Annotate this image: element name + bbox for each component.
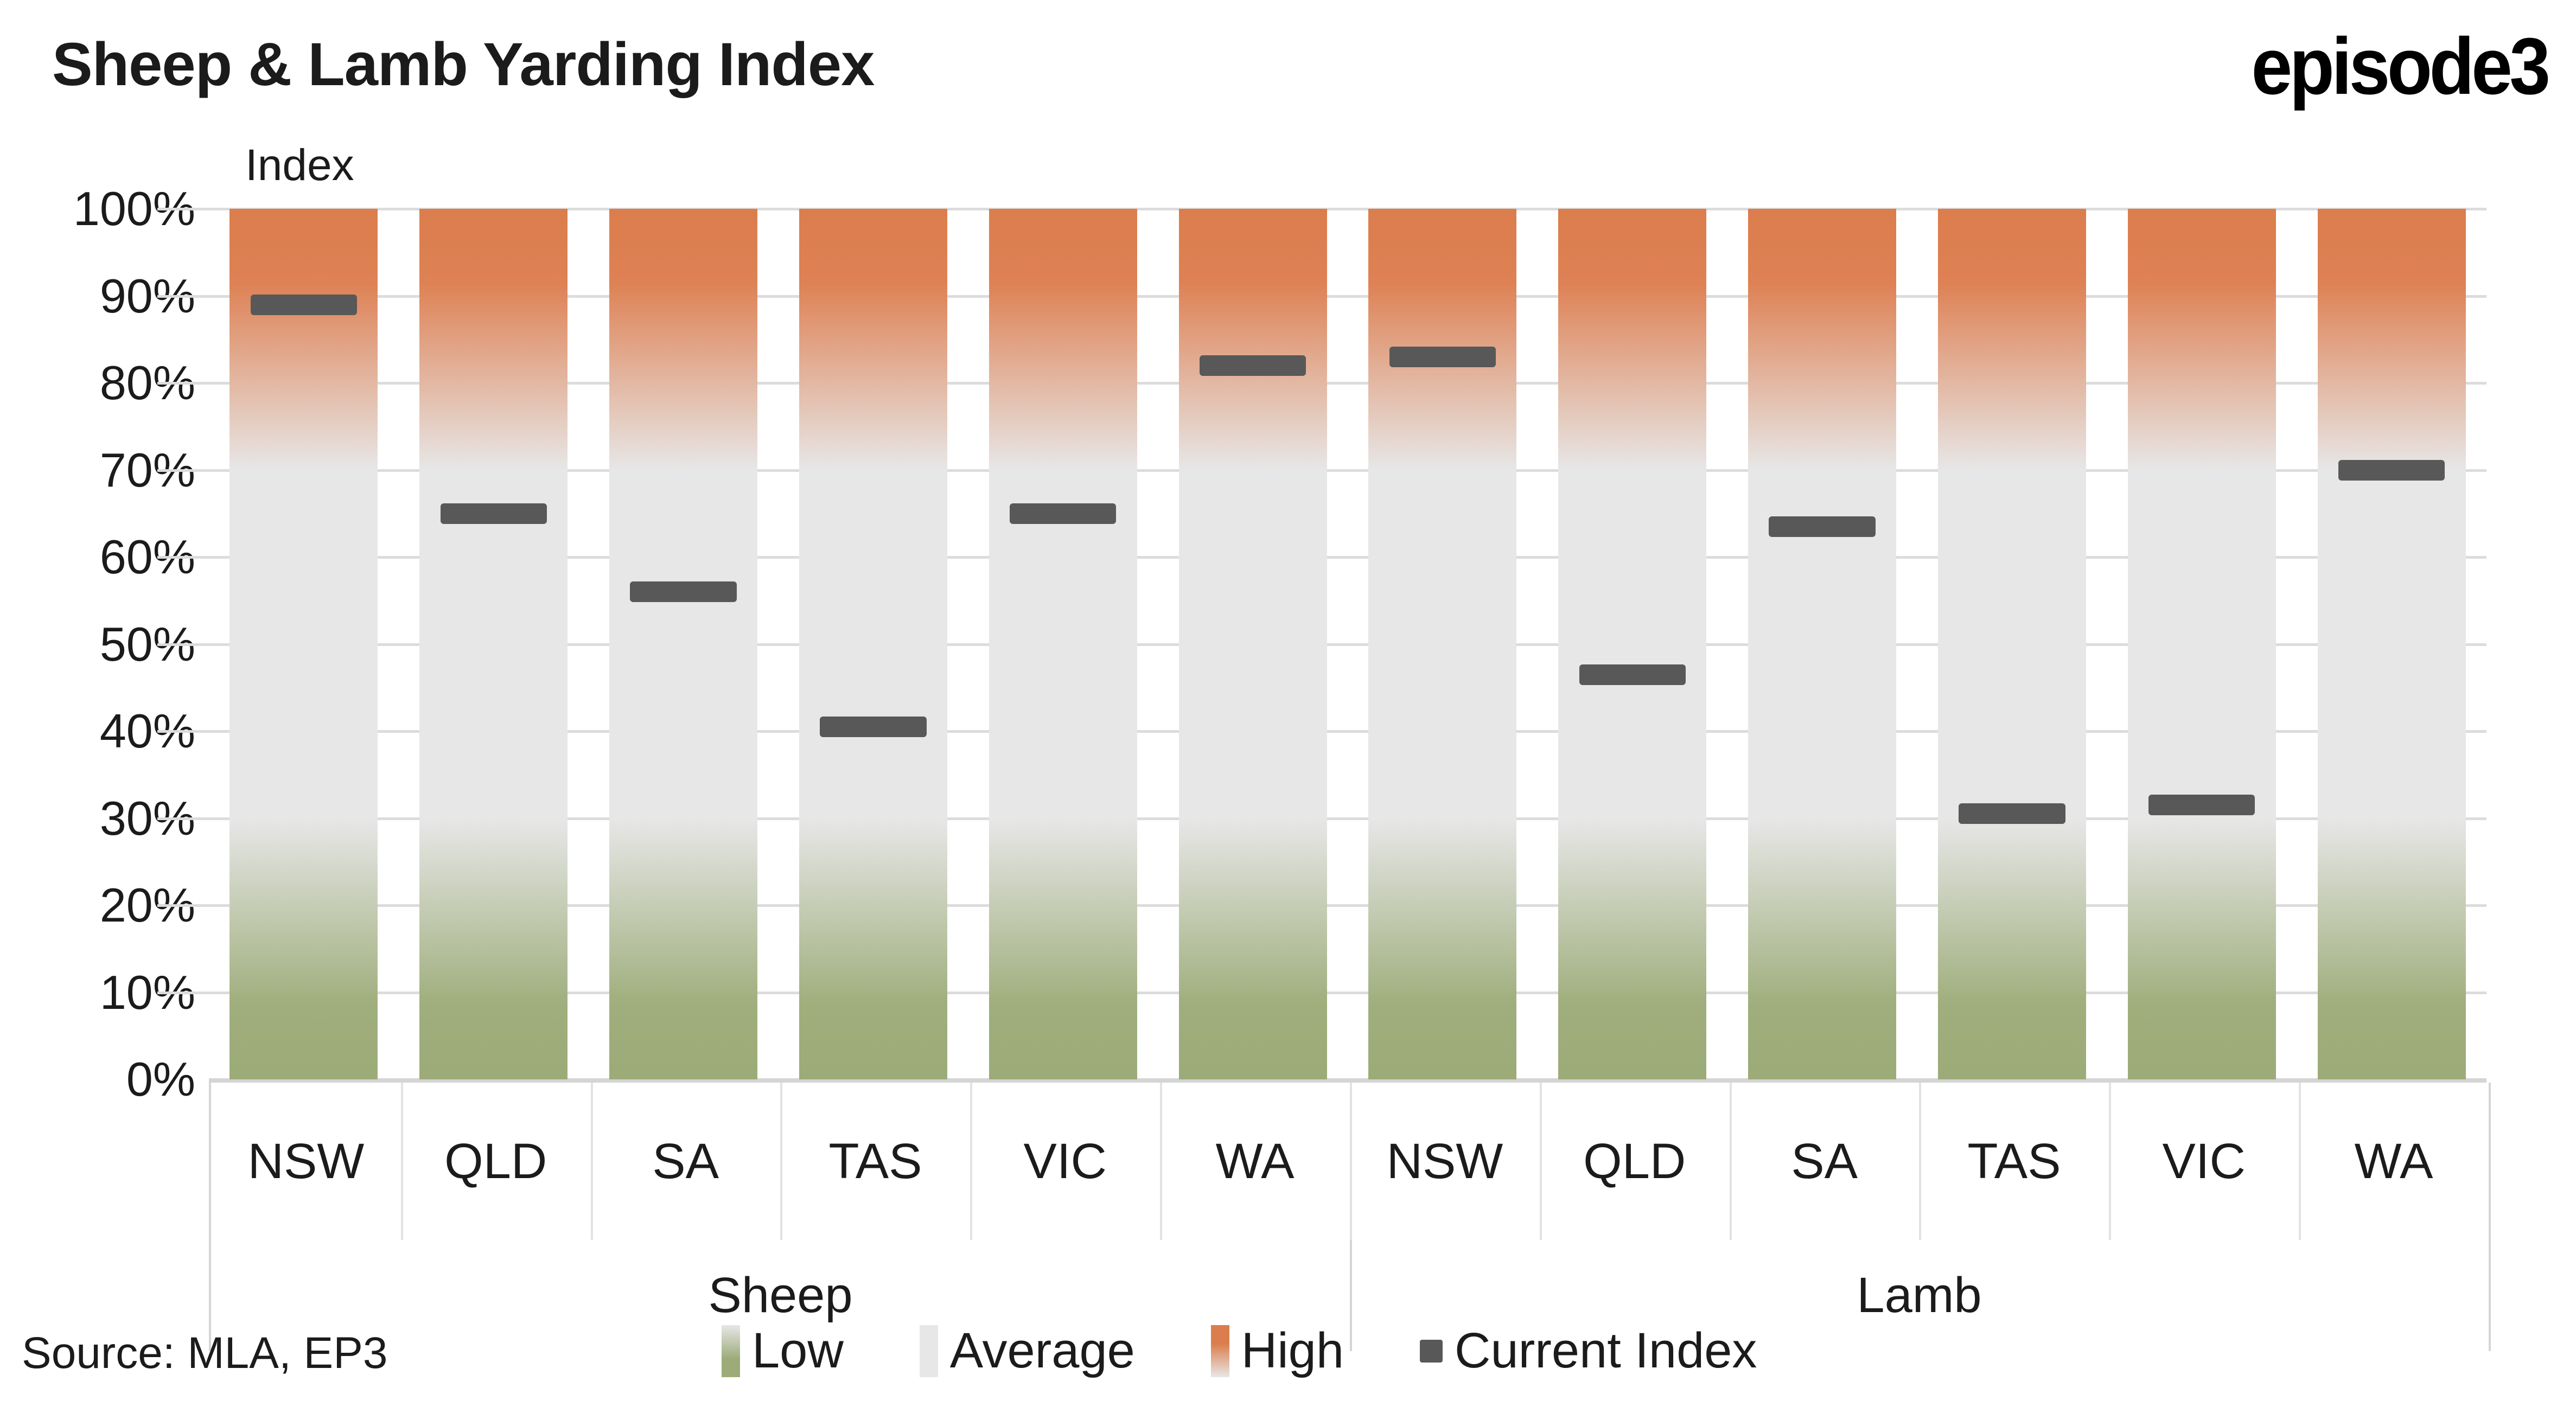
source-note: Source: MLA, EP3 [22, 1328, 388, 1379]
current-index-marker-lamb-sa [1769, 516, 1875, 537]
current-index-dash [1420, 1340, 1443, 1363]
bar-lamb-qld [1558, 209, 1706, 1079]
bar-sheep-nsw [229, 209, 378, 1079]
band-low [799, 818, 947, 1080]
band-low [1938, 818, 2086, 1080]
current-index-marker-lamb-vic [2148, 795, 2255, 815]
band-high [989, 209, 1137, 470]
legend-item-average[interactable]: Average [920, 1322, 1135, 1379]
band-high [1748, 209, 1896, 470]
bar-lamb-wa [2318, 209, 2466, 1079]
band-low [1558, 818, 1706, 1080]
bar-sheep-vic [989, 209, 1137, 1079]
current-index-marker-lamb-tas [1959, 803, 2065, 824]
bar-sheep-wa [1179, 209, 1327, 1079]
band-low [609, 818, 757, 1080]
high-gradient-swatch [1211, 1325, 1229, 1377]
category-label-sheep-sa: SA [591, 1083, 783, 1240]
band-high [1938, 209, 2086, 470]
category-axis: NSWQLDSATASVICWANSWQLDSATASVICWA [209, 1083, 2491, 1240]
page-title: Sheep & Lamb Yarding Index [52, 29, 874, 99]
category-label-sheep-tas: TAS [781, 1083, 973, 1240]
legend-item-current-index[interactable]: Current Index [1420, 1322, 1757, 1379]
band-high [799, 209, 947, 470]
band-high [2128, 209, 2276, 470]
current-index-marker-lamb-qld [1579, 664, 1686, 685]
bar-lamb-sa [1748, 209, 1896, 1079]
band-high [229, 209, 378, 470]
band-low [2318, 818, 2466, 1080]
legend-label: High [1241, 1322, 1344, 1379]
category-label-lamb-wa: WA [2299, 1083, 2489, 1240]
bar-lamb-tas [1938, 209, 2086, 1079]
y-axis-tick-0: 0% [16, 1052, 195, 1107]
category-label-sheep-nsw: NSW [211, 1083, 403, 1240]
chart-legend: LowAverageHighCurrent Index [722, 1322, 1757, 1379]
band-low [1368, 818, 1516, 1080]
legend-label: Average [950, 1322, 1135, 1379]
current-index-marker-sheep-sa [630, 581, 736, 602]
band-low [419, 818, 568, 1080]
current-index-marker-lamb-nsw [1389, 347, 1496, 367]
category-label-lamb-qld: QLD [1540, 1083, 1732, 1240]
bar-sheep-tas [799, 209, 947, 1079]
band-high [2318, 209, 2466, 470]
brand-logo: episode3 [2252, 21, 2548, 113]
y-axis-unit-label: Index [245, 140, 354, 191]
current-index-marker-sheep-nsw [251, 295, 357, 315]
category-label-sheep-vic: VIC [970, 1083, 1162, 1240]
category-label-lamb-vic: VIC [2109, 1083, 2301, 1240]
current-index-marker-lamb-wa [2338, 460, 2445, 481]
average-swatch [920, 1325, 938, 1377]
band-low [2128, 818, 2276, 1080]
band-low [229, 818, 378, 1080]
legend-label: Low [752, 1322, 844, 1379]
bar-lamb-nsw [1368, 209, 1516, 1079]
category-label-sheep-wa: WA [1160, 1083, 1352, 1240]
legend-item-low[interactable]: Low [722, 1322, 844, 1379]
band-low [1179, 818, 1327, 1080]
band-high [419, 209, 568, 470]
category-label-sheep-qld: QLD [401, 1083, 593, 1240]
band-high [1368, 209, 1516, 470]
current-index-marker-sheep-tas [820, 717, 926, 737]
current-index-marker-sheep-vic [1010, 503, 1116, 524]
current-index-marker-sheep-wa [1200, 355, 1306, 376]
current-index-marker-sheep-qld [441, 503, 547, 524]
plot-area [209, 209, 2486, 1079]
band-high [1558, 209, 1706, 470]
legend-item-high[interactable]: High [1211, 1322, 1344, 1379]
legend-label: Current Index [1455, 1322, 1757, 1379]
band-high [609, 209, 757, 470]
band-low [1748, 818, 1896, 1080]
bar-sheep-sa [609, 209, 757, 1079]
band-low [989, 818, 1137, 1080]
category-label-lamb-tas: TAS [1920, 1083, 2112, 1240]
bar-lamb-vic [2128, 209, 2276, 1079]
low-gradient-swatch [722, 1325, 740, 1377]
bar-sheep-qld [419, 209, 568, 1079]
category-label-lamb-nsw: NSW [1350, 1083, 1542, 1240]
band-high [1179, 209, 1327, 470]
category-label-lamb-sa: SA [1730, 1083, 1922, 1240]
